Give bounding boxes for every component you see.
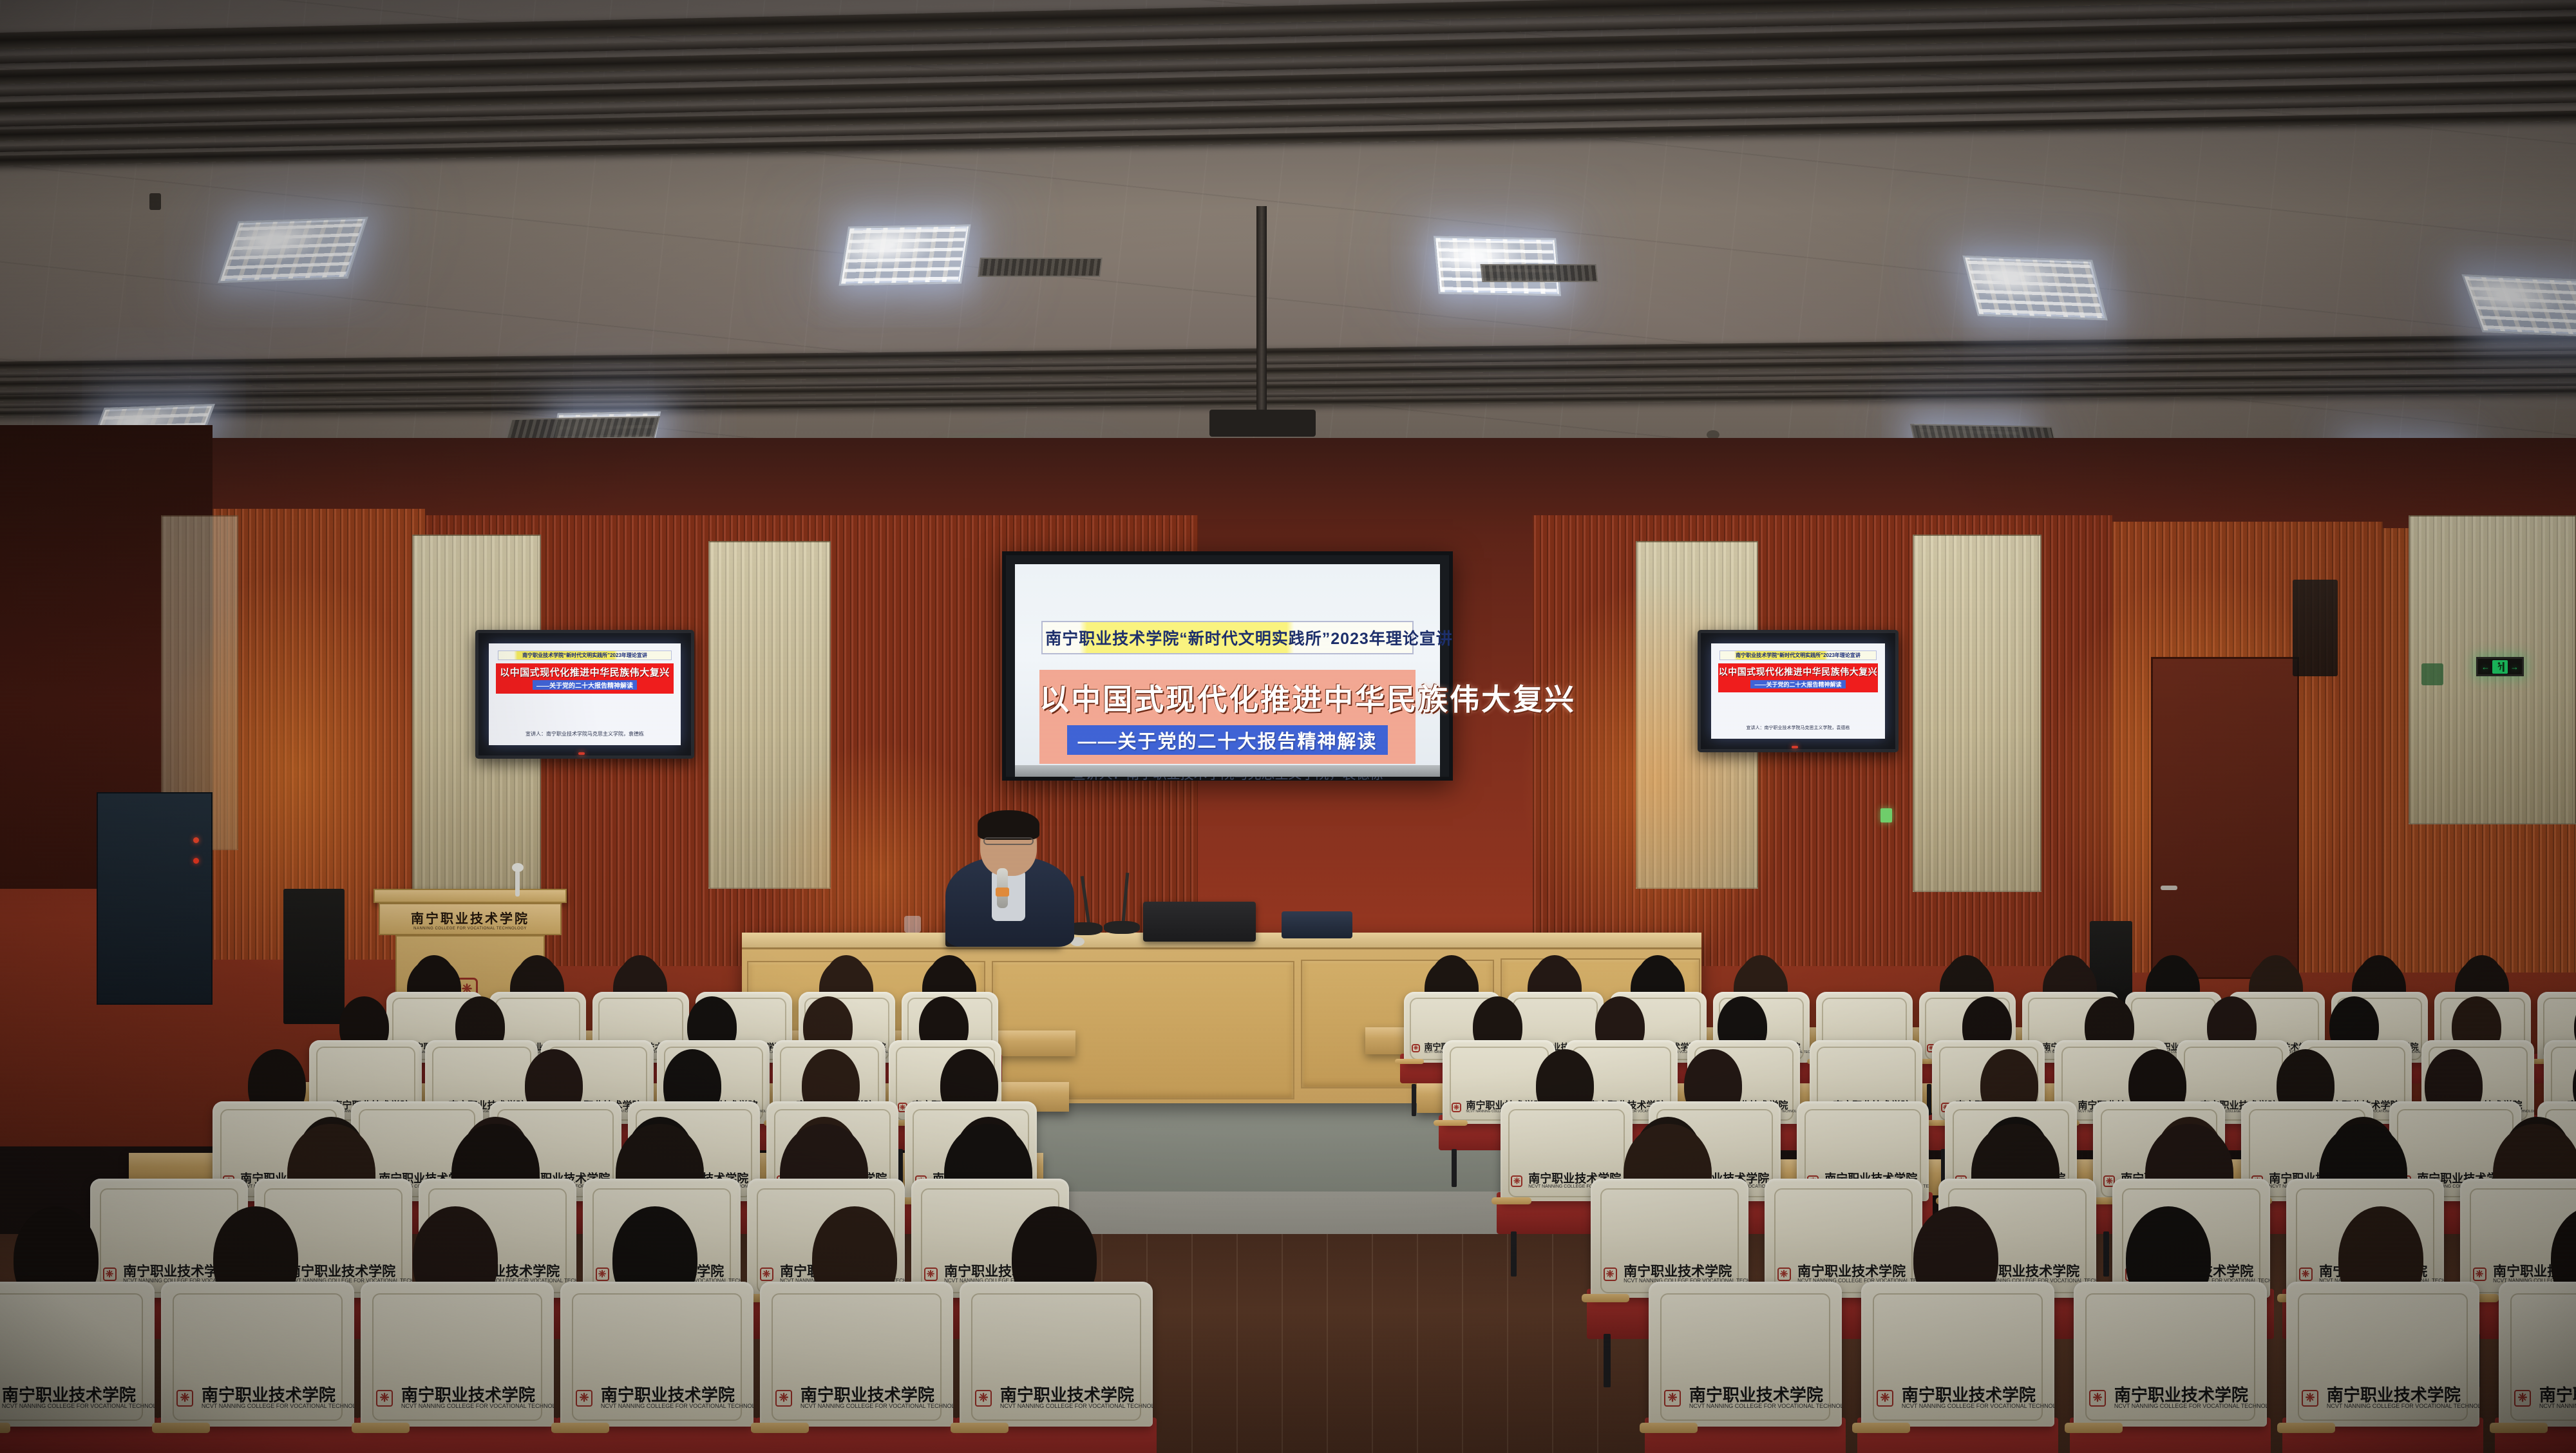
chair-cover-name-cn: 南宁职业技术学院 xyxy=(601,1387,753,1403)
chair-cover-text: 南宁职业技术学院NCVT NANNING COLLEGE FOR VOCATIO… xyxy=(2539,1387,2576,1409)
audience-chair[interactable]: ❈南宁职业技术学院NCVT NANNING COLLEGE FOR VOCATI… xyxy=(760,1282,953,1427)
slide-title-band: 以中国式现代化推进中华民族伟大复兴 ——关于党的二十大报告精神解读 xyxy=(1039,670,1416,764)
chair-armrest xyxy=(2277,1423,2335,1433)
tv-right-banner: 南宁职业技术学院“新时代文明实践所”2023年理论宣讲 xyxy=(1719,651,1877,660)
fire-equipment-sign xyxy=(2421,663,2443,685)
exit-door[interactable] xyxy=(2151,657,2299,979)
chair-cover-text: 南宁职业技术学院NCVT NANNING COLLEGE FOR VOCATIO… xyxy=(401,1387,554,1409)
chair-cover-name-en: NCVT NANNING COLLEGE FOR VOCATIONAL TECH… xyxy=(1689,1403,1842,1409)
tv-right-title: 以中国式现代化推进中华民族伟大复兴 xyxy=(1718,665,1879,678)
audience-chair[interactable]: ❈南宁职业技术学院NCVT NANNING COLLEGE FOR VOCATI… xyxy=(1591,1179,1748,1298)
ncvt-logo-icon: ❈ xyxy=(596,1268,609,1281)
slide-subtitle: ——关于党的二十大报告精神解读 xyxy=(1067,725,1387,755)
chair-armrest xyxy=(2490,1423,2548,1433)
chair-cover-logo: ❈南宁职业技术学院NCVT NANNING COLLEGE FOR VOCATI… xyxy=(0,1387,143,1409)
podium-nameplate: 南宁职业技术学院 NANNING COLLEGE FOR VOCATIONAL … xyxy=(379,903,562,935)
ncvt-logo-icon: ❈ xyxy=(2302,1390,2318,1407)
chair-cover-name-en: NCVT NANNING COLLEGE FOR VOCATIONAL TECH… xyxy=(2,1403,155,1409)
chair-cover-name-cn: 南宁职业技术学院 xyxy=(2114,1387,2267,1403)
chair-cover-logo: ❈南宁职业技术学院NCVT NANNING COLLEGE FOR VOCATI… xyxy=(2514,1387,2576,1409)
acoustic-panel xyxy=(708,541,831,889)
chair-armrest xyxy=(1640,1423,1698,1433)
chair-cover-logo: ❈南宁职业技术学院NCVT NANNING COLLEGE FOR VOCATI… xyxy=(2089,1387,2255,1409)
podium-top xyxy=(374,889,567,903)
slide-surface: 南宁职业技术学院“新时代文明实践所”2023年理论宣讲 以中国式现代化推进中华民… xyxy=(1015,564,1440,768)
chair-cover-text: 南宁职业技术学院NCVT NANNING COLLEGE FOR VOCATIO… xyxy=(601,1387,753,1409)
chair-cover-text: 南宁职业技术学院NCVT NANNING COLLEGE FOR VOCATIO… xyxy=(1902,1387,2054,1409)
tv-left-banner: 南宁职业技术学院“新时代文明实践所”2023年理论宣讲 xyxy=(498,651,672,660)
speaker-glasses-icon xyxy=(983,837,1034,845)
loudspeaker xyxy=(2293,580,2338,676)
chair-cover-name-en: NCVT NANNING COLLEGE FOR VOCATIONAL TECH… xyxy=(1902,1403,2054,1409)
chair-cover-name-cn: 南宁职业技术学院 xyxy=(1689,1387,1842,1403)
chair-armrest xyxy=(751,1423,809,1433)
ncvt-logo-icon: ❈ xyxy=(2473,1268,2486,1281)
chair-cover-text: 南宁职业技术学院NCVT NANNING COLLEGE FOR VOCATIO… xyxy=(2327,1387,2479,1409)
chair-cover-logo: ❈南宁职业技术学院NCVT NANNING COLLEGE FOR VOCATI… xyxy=(2302,1387,2468,1409)
audience-chair[interactable]: ❈南宁职业技术学院NCVT NANNING COLLEGE FOR VOCATI… xyxy=(2499,1282,2576,1427)
chair-leg xyxy=(1452,1149,1457,1187)
tv-left-screen: 南宁职业技术学院“新时代文明实践所”2023年理论宣讲 以中国式现代化推进中华民… xyxy=(489,643,681,745)
chair-cover-name-en: NCVT NANNING COLLEGE FOR VOCATIONAL TECH… xyxy=(2539,1403,2576,1409)
chair-armrest xyxy=(152,1423,210,1433)
exit-sign-wall: ← → xyxy=(2476,657,2524,676)
chair-cover-logo: ❈南宁职业技术学院NCVT NANNING COLLEGE FOR VOCATI… xyxy=(576,1387,742,1409)
ncvt-logo-icon: ❈ xyxy=(103,1268,117,1281)
chair-cover-text: 南宁职业技术学院NCVT NANNING COLLEGE FOR VOCATIO… xyxy=(1797,1265,1922,1284)
exit-running-man-icon xyxy=(2492,660,2508,674)
microphone-base xyxy=(1104,921,1140,934)
tv-left: 南宁职业技术学院“新时代文明实践所”2023年理论宣讲 以中国式现代化推进中华民… xyxy=(475,630,694,759)
ncvt-logo-icon: ❈ xyxy=(1877,1390,1893,1407)
chair-cover-logo: ❈南宁职业技术学院NCVT NANNING COLLEGE FOR VOCATI… xyxy=(376,1387,542,1409)
chair-cover-logo: ❈南宁职业技术学院NCVT NANNING COLLEGE FOR VOCATI… xyxy=(1664,1387,1830,1409)
chair-leg xyxy=(1604,1334,1611,1387)
chair-cover-name-en: NCVT NANNING COLLEGE FOR VOCATIONAL TECH… xyxy=(601,1403,753,1409)
projector-mount xyxy=(1209,410,1316,437)
chair-cover-text: 南宁职业技术学院NCVT NANNING COLLEGE FOR VOCATIO… xyxy=(287,1265,412,1284)
exit-arrow-left-icon: ← xyxy=(2481,662,2490,672)
ncvt-logo-icon: ❈ xyxy=(1664,1390,1681,1407)
ncvt-logo-icon: ❈ xyxy=(1511,1175,1522,1187)
ncvt-logo-icon: ❈ xyxy=(775,1390,792,1407)
chair-cover-logo: ❈南宁职业技术学院NCVT NANNING COLLEGE FOR VOCATI… xyxy=(1877,1387,2043,1409)
ncvt-logo-icon: ❈ xyxy=(1777,1268,1791,1281)
chair-cover-name-cn: 南宁职业技术学院 xyxy=(401,1387,554,1403)
chair-cover-logo: ❈南宁职业技术学院NCVT NANNING COLLEGE FOR VOCATI… xyxy=(1604,1265,1739,1284)
lecture-hall-photo: ← → ← xyxy=(0,0,2576,1453)
wall-indicator-icon xyxy=(1880,808,1892,822)
speaker-hair xyxy=(978,810,1039,840)
air-vent xyxy=(506,416,660,441)
projection-screen: 南宁职业技术学院“新时代文明实践所”2023年理论宣讲 以中国式现代化推进中华民… xyxy=(1002,551,1453,781)
microphone-grip xyxy=(996,888,1009,897)
loudspeaker xyxy=(283,889,345,1024)
chair-armrest xyxy=(1434,1120,1468,1126)
chair-cover-name-cn: 南宁职业技术学院 xyxy=(1624,1265,1748,1278)
ncvt-logo-icon: ❈ xyxy=(975,1390,992,1407)
ceiling-light-panel xyxy=(218,217,368,283)
acoustic-panel xyxy=(1913,535,2041,892)
tv-left-power-led-icon xyxy=(578,752,585,755)
chair-cover-name-cn: 南宁职业技术学院 xyxy=(202,1387,354,1403)
chair-leg xyxy=(2103,1231,2109,1277)
tv-left-title-band: 以中国式现代化推进中华民族伟大复兴 ——关于党的二十大报告精神解读 xyxy=(496,663,674,694)
chair-leg xyxy=(1511,1231,1517,1277)
ncvt-logo-icon: ❈ xyxy=(2514,1390,2531,1407)
chair-armrest xyxy=(352,1423,410,1433)
chair-cover-text: 南宁职业技术学院NCVT NANNING COLLEGE FOR VOCATIO… xyxy=(800,1387,953,1409)
chair-cover-text: 南宁职业技术学院NCVT NANNING COLLEGE FOR VOCATIO… xyxy=(2,1387,155,1409)
smoke-detector-icon xyxy=(149,193,161,210)
chair-cover-name-cn: 南宁职业技术学院 xyxy=(1902,1387,2054,1403)
chair-cover-text: 南宁职业技术学院NCVT NANNING COLLEGE FOR VOCATIO… xyxy=(1689,1387,1842,1409)
tv-right-screen: 南宁职业技术学院“新时代文明实践所”2023年理论宣讲 以中国式现代化推进中华民… xyxy=(1711,643,1885,739)
door-handle-icon[interactable] xyxy=(2161,886,2177,890)
chair-cover-name-cn: 南宁职业技术学院 xyxy=(2,1387,155,1403)
chair-cover-name-en: NCVT NANNING COLLEGE FOR VOCATIONAL TECH… xyxy=(401,1403,554,1409)
chair-cover-name-cn: 南宁职业技术学院 xyxy=(1000,1387,1153,1403)
water-glass-icon xyxy=(904,916,921,933)
chair-cover-name-cn: 南宁职业技术学院 xyxy=(2327,1387,2479,1403)
tv-left-presenter: 宣讲人：南宁职业技术学院马克思主义学院，袁德栋 xyxy=(526,730,644,737)
audience-chair[interactable]: ❈南宁职业技术学院NCVT NANNING COLLEGE FOR VOCATI… xyxy=(1765,1179,1922,1298)
tv-left-subtitle: ——关于党的二十大报告精神解读 xyxy=(533,680,637,690)
chair-cover-name-en: NCVT NANNING COLLEGE FOR VOCATIONAL TECH… xyxy=(2114,1403,2267,1409)
ncvt-logo-icon: ❈ xyxy=(1452,1103,1461,1112)
chair-armrest xyxy=(2065,1423,2123,1433)
chair-armrest xyxy=(1852,1423,1910,1433)
ncvt-logo-icon: ❈ xyxy=(576,1390,592,1407)
ncvt-logo-icon: ❈ xyxy=(176,1390,193,1407)
chair-armrest xyxy=(551,1423,609,1433)
chair-cover-name-cn: 南宁职业技术学院 xyxy=(1797,1265,1922,1278)
chair-cover-name-en: NCVT NANNING COLLEGE FOR VOCATIONAL TECH… xyxy=(800,1403,953,1409)
tv-right-presenter: 宣讲人：南宁职业技术学院马克思主义学院，袁德栋 xyxy=(1747,725,1850,731)
rack-led-icon xyxy=(193,837,199,843)
chair-cover-text: 南宁职业技术学院NCVT NANNING COLLEGE FOR VOCATIO… xyxy=(1624,1265,1748,1284)
audience-chair[interactable]: ❈南宁职业技术学院NCVT NANNING COLLEGE FOR VOCATI… xyxy=(1649,1282,1842,1427)
ncvt-logo-icon: ❈ xyxy=(1412,1044,1420,1052)
chair-leg xyxy=(1412,1084,1416,1116)
projector-rod xyxy=(1256,206,1267,419)
screen-bottom-bar xyxy=(1015,765,1440,777)
ncvt-logo-icon: ❈ xyxy=(2299,1268,2313,1281)
exit-arrow-right-icon: → xyxy=(2510,662,2519,672)
audience-chair[interactable]: ❈南宁职业技术学院NCVT NANNING COLLEGE FOR VOCATI… xyxy=(960,1282,1153,1427)
ncvt-logo-icon: ❈ xyxy=(760,1268,773,1281)
ceiling-light-panel xyxy=(1962,256,2108,321)
chair-armrest xyxy=(951,1423,1009,1433)
chair-armrest xyxy=(1582,1294,1629,1302)
chair-cover-name-cn: 南宁职业技术学院 xyxy=(287,1265,412,1278)
ncvt-logo-icon: ❈ xyxy=(2089,1390,2106,1407)
audience-chair[interactable]: ❈南宁职业技术学院NCVT NANNING COLLEGE FOR VOCATI… xyxy=(2074,1282,2267,1427)
podium-mic-head-icon xyxy=(512,863,524,872)
audience-chair[interactable]: ❈南宁职业技术学院NCVT NANNING COLLEGE FOR VOCATI… xyxy=(161,1282,354,1427)
air-vent xyxy=(1481,264,1598,282)
chair-cover-text: 南宁职业技术学院NCVT NANNING COLLEGE FOR VOCATIO… xyxy=(2114,1387,2267,1409)
audience-chair[interactable]: ❈南宁职业技术学院NCVT NANNING COLLEGE FOR VOCATI… xyxy=(0,1282,155,1427)
chair-cover-logo: ❈南宁职业技术学院NCVT NANNING COLLEGE FOR VOCATI… xyxy=(775,1387,942,1409)
chair-cover-name-en: NCVT NANNING COLLEGE FOR VOCATIONAL TECH… xyxy=(2327,1403,2479,1409)
tv-right-power-led-icon xyxy=(1792,746,1798,748)
chair-cover-text: 南宁职业技术学院NCVT NANNING COLLEGE FOR VOCATIO… xyxy=(1000,1387,1153,1409)
chair-cover-name-en: NCVT NANNING COLLEGE FOR VOCATIONAL TECH… xyxy=(1000,1403,1153,1409)
chair-armrest xyxy=(1395,1059,1424,1064)
tv-right-subtitle: ——关于党的二十大报告精神解读 xyxy=(1750,680,1845,689)
ncvt-logo-icon: ❈ xyxy=(924,1268,938,1281)
slide-banner: 南宁职业技术学院“新时代文明实践所”2023年理论宣讲 xyxy=(1041,621,1414,654)
audience-chair[interactable]: ❈南宁职业技术学院NCVT NANNING COLLEGE FOR VOCATI… xyxy=(361,1282,554,1427)
audience-chair[interactable]: ❈南宁职业技术学院NCVT NANNING COLLEGE FOR VOCATI… xyxy=(560,1282,753,1427)
audience-chair[interactable]: ❈南宁职业技术学院NCVT NANNING COLLEGE FOR VOCATI… xyxy=(1861,1282,2054,1427)
chair-cover-text: 南宁职业技术学院NCVT NANNING COLLEGE FOR VOCATIO… xyxy=(202,1387,354,1409)
equipment-rack xyxy=(97,792,213,1005)
tv-right: 南宁职业技术学院“新时代文明实践所”2023年理论宣讲 以中国式现代化推进中华民… xyxy=(1698,630,1899,752)
podium-microphone xyxy=(515,871,520,897)
chair-cover-name-cn: 南宁职业技术学院 xyxy=(2539,1387,2576,1403)
ncvt-logo-icon: ❈ xyxy=(376,1390,393,1407)
chair-cover-name-cn: 南宁职业技术学院 xyxy=(800,1387,953,1403)
tv-left-title: 以中国式现代化推进中华民族伟大复兴 xyxy=(496,665,674,679)
ncvt-logo-icon: ❈ xyxy=(1604,1268,1617,1281)
chair-cover-name-en: NCVT NANNING COLLEGE FOR VOCATIONAL TECH… xyxy=(202,1403,354,1409)
document-folder xyxy=(1282,911,1352,938)
podium-name-en: NANNING COLLEGE FOR VOCATIONAL TECHNOLOG… xyxy=(413,927,527,931)
chair-armrest xyxy=(0,1423,10,1433)
slide-title: 以中国式现代化推进中华民族伟大复兴 xyxy=(1039,676,1416,719)
podium-name-cn: 南宁职业技术学院 xyxy=(411,908,529,927)
tv-right-title-band: 以中国式现代化推进中华民族伟大复兴 ——关于党的二十大报告精神解读 xyxy=(1718,663,1879,692)
audience-chair[interactable]: ❈南宁职业技术学院NCVT NANNING COLLEGE FOR VOCATI… xyxy=(2286,1282,2479,1427)
ceiling-light-panel xyxy=(838,224,971,285)
chair-cover-logo: ❈南宁职业技术学院NCVT NANNING COLLEGE FOR VOCATI… xyxy=(1777,1265,1913,1284)
air-vent xyxy=(978,258,1103,277)
chair-cover-logo: ❈南宁职业技术学院NCVT NANNING COLLEGE FOR VOCATI… xyxy=(176,1387,343,1409)
laptop-right xyxy=(1143,902,1256,942)
rack-led-icon xyxy=(193,858,199,864)
chair-cover-logo: ❈南宁职业技术学院NCVT NANNING COLLEGE FOR VOCATI… xyxy=(975,1387,1141,1409)
chair-armrest xyxy=(1492,1197,1531,1204)
